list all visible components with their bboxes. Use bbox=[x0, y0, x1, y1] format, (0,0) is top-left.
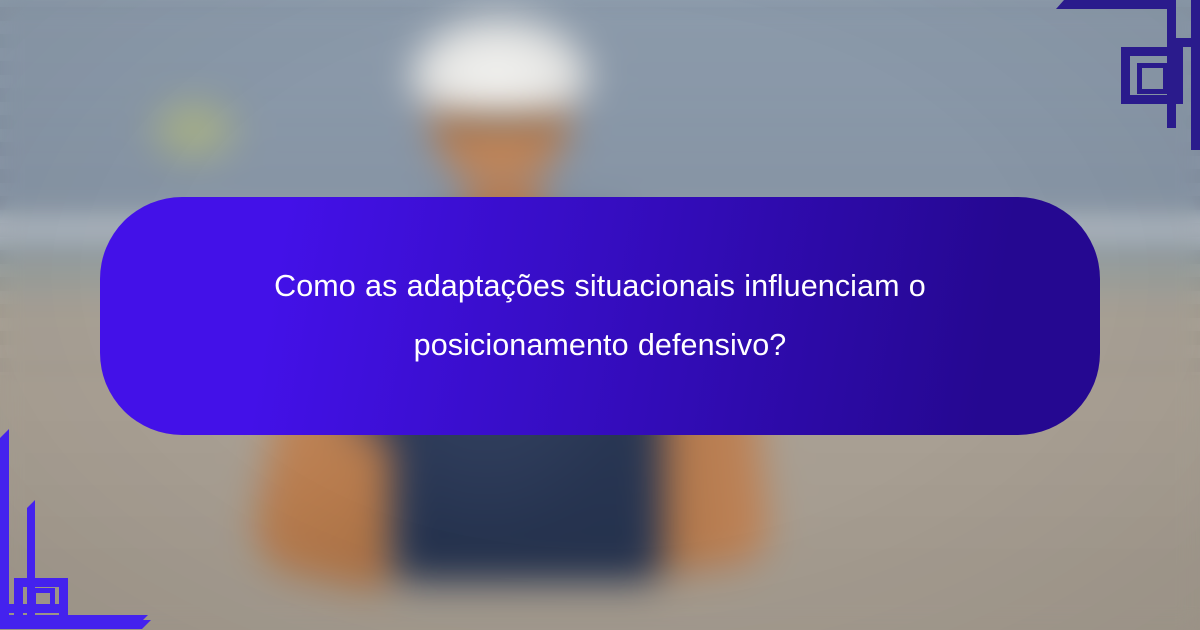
corner-ornament-top-right bbox=[980, 0, 1200, 150]
corner-ornament-bottom-left bbox=[0, 420, 220, 630]
poster-canvas: Como as adaptações situacionais influenc… bbox=[0, 0, 1200, 630]
quote-card: Como as adaptações situacionais influenc… bbox=[100, 197, 1100, 435]
quote-text: Como as adaptações situacionais influenc… bbox=[186, 257, 1014, 375]
